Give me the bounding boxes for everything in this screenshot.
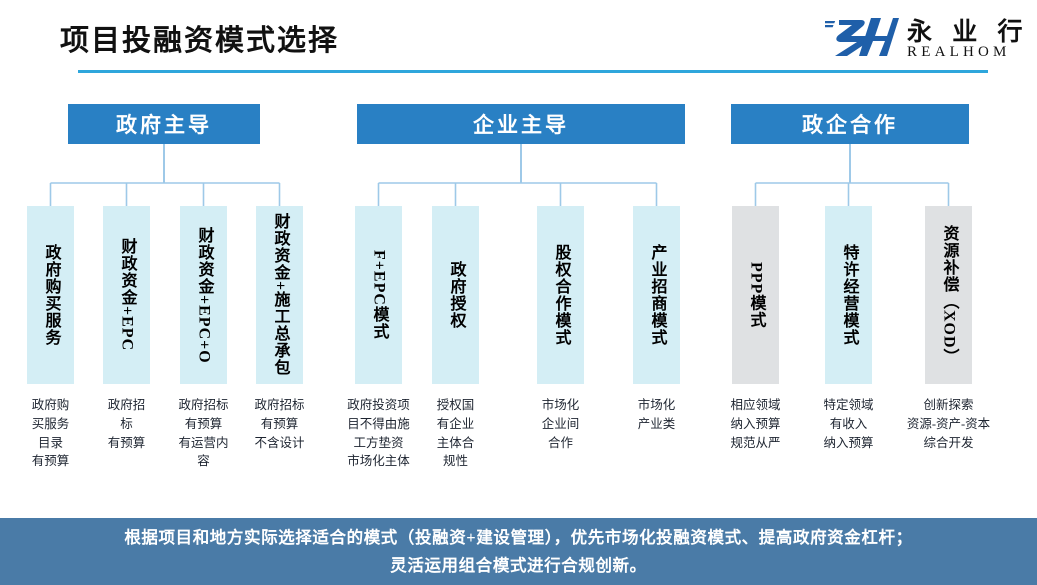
mode-box-enterprise-led-2[interactable]: 股权合作模式 (537, 206, 584, 384)
brand-logo: 永 业 行 REALHOM (825, 10, 1025, 66)
org-diagram: 政府主导政府购买服务政府购 买服务 目录 有预算财政资金+EPC政府招 标 有预… (0, 78, 1037, 508)
mode-note-enterprise-led-0: 政府投资项 目不得由施 工方垫资 市场化主体 (337, 396, 421, 471)
brand-name-cn: 永 业 行 (907, 12, 1030, 48)
mode-box-label: 资源补偿（XOD） (940, 225, 958, 366)
mode-box-government-led-1[interactable]: 财政资金+EPC (103, 206, 150, 384)
mode-box-label: 特许经营模式 (840, 244, 858, 346)
page-title: 项目投融资模式选择 (60, 17, 339, 59)
mode-box-label: 财政资金+EPC (118, 238, 136, 351)
footer-summary-banner: 根据项目和地方实际选择适合的模式（投融资+建设管理），优先市场化投融资模式、提高… (0, 518, 1037, 585)
mode-note-government-enterprise-cooperation-0: 相应领域 纳入预算 规范从严 (714, 396, 798, 452)
mode-box-enterprise-led-1[interactable]: 政府授权 (432, 206, 479, 384)
yh-monogram-icon (825, 14, 899, 58)
mode-box-label: 股权合作模式 (552, 244, 570, 346)
mode-note-government-led-1: 政府招 标 有预算 (85, 396, 169, 452)
mode-box-government-led-0[interactable]: 政府购买服务 (27, 206, 74, 384)
mode-box-label: 产业招商模式 (648, 244, 666, 346)
brand-name-en: REALHOM (907, 44, 1011, 61)
mode-box-government-led-2[interactable]: 财政资金+EPC+O (180, 206, 227, 384)
mode-note-enterprise-led-2: 市场化 企业间 合作 (519, 396, 603, 452)
group-header-label: 政企合作 (802, 109, 898, 139)
mode-box-government-enterprise-cooperation-0[interactable]: PPP模式 (732, 206, 779, 384)
mode-box-label: 政府购买服务 (42, 244, 60, 346)
mode-box-label: 政府授权 (447, 261, 465, 329)
mode-box-label: 财政资金+EPC+O (195, 227, 213, 364)
mode-box-label: 财政资金+施工总承包 (271, 213, 289, 376)
group-header-government-enterprise-cooperation[interactable]: 政企合作 (731, 104, 969, 144)
group-header-government-led[interactable]: 政府主导 (68, 104, 260, 144)
group-header-label: 政府主导 (116, 109, 212, 139)
group-header-label: 企业主导 (473, 109, 569, 139)
mode-box-enterprise-led-3[interactable]: 产业招商模式 (633, 206, 680, 384)
mode-note-enterprise-led-3: 市场化 产业类 (615, 396, 699, 434)
footer-line-2: 灵活运用组合模式进行合规创新。 (390, 552, 647, 579)
group-header-enterprise-led[interactable]: 企业主导 (357, 104, 685, 144)
mode-note-government-enterprise-cooperation-1: 特定领域 有收入 纳入预算 (807, 396, 891, 452)
mode-box-enterprise-led-0[interactable]: F+EPC模式 (355, 206, 402, 384)
mode-box-government-enterprise-cooperation-1[interactable]: 特许经营模式 (825, 206, 872, 384)
mode-box-government-enterprise-cooperation-2[interactable]: 资源补偿（XOD） (925, 206, 972, 384)
footer-line-1: 根据项目和地方实际选择适合的模式（投融资+建设管理），优先市场化投融资模式、提高… (124, 524, 912, 551)
mode-note-government-enterprise-cooperation-2: 创新探索 资源-资产-资本 综合开发 (907, 396, 991, 452)
mode-box-government-led-3[interactable]: 财政资金+施工总承包 (256, 206, 303, 384)
mode-box-label: PPP模式 (747, 262, 765, 328)
mode-note-government-led-2: 政府招标 有预算 有运营内 容 (162, 396, 246, 471)
mode-box-label: F+EPC模式 (370, 250, 388, 340)
mode-note-enterprise-led-1: 授权国 有企业 主体合 规性 (414, 396, 498, 471)
title-underline-rule (78, 70, 988, 73)
mode-note-government-led-0: 政府购 买服务 目录 有预算 (9, 396, 93, 471)
slide-header: 项目投融资模式选择 永 业 行 REALHOM (0, 0, 1037, 78)
mode-note-government-led-3: 政府招标 有预算 不含设计 (238, 396, 322, 452)
